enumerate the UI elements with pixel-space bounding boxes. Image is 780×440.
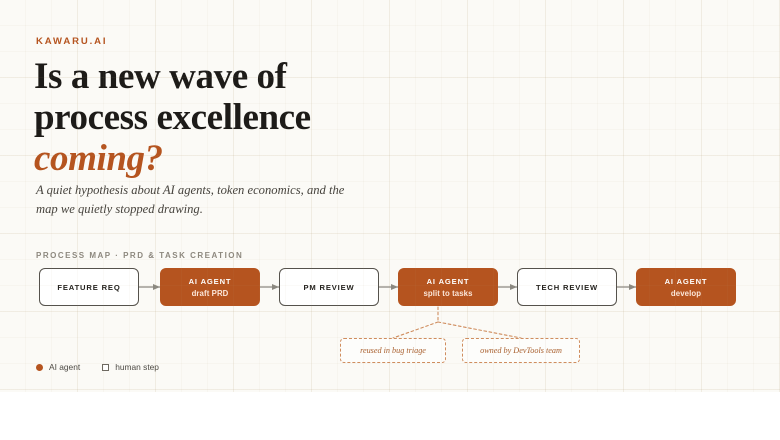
flow-node-title: PM REVIEW — [303, 283, 354, 292]
annotation-label: reused in bug triage — [360, 346, 426, 355]
annotation-owned-by-devtools[interactable]: owned by DevTools team — [462, 338, 580, 363]
flow-node-subtitle: develop — [671, 289, 701, 298]
ai-agent-swatch-icon — [36, 364, 43, 371]
flow-node-tech-review[interactable]: TECH REVIEW — [517, 268, 617, 306]
flow-node-title: AI AGENT — [189, 277, 232, 286]
flow-node-title: AI AGENT — [427, 277, 470, 286]
flow-node-subtitle: draft PRD — [192, 289, 229, 298]
flow-node-title: TECH REVIEW — [536, 283, 598, 292]
section-label: PROCESS MAP · PRD & TASK CREATION — [36, 251, 243, 260]
content-layer: KAWARU.AI Is a new wave of process excel… — [0, 0, 780, 392]
flow-node-pm-review[interactable]: PM REVIEW — [279, 268, 379, 306]
annotation-reused-in-bug-triage[interactable]: reused in bug triage — [340, 338, 446, 363]
legend-label: human step — [115, 362, 159, 372]
flow-node-title: FEATURE REQ — [57, 283, 120, 292]
human-step-swatch-icon — [102, 364, 109, 371]
legend: AI agent human step — [36, 362, 159, 372]
legend-item-human-step: human step — [102, 362, 159, 372]
brand-wordmark: KAWARU.AI — [36, 36, 107, 47]
flow-node-split-to-tasks[interactable]: AI AGENT split to tasks — [398, 268, 498, 306]
legend-label: AI agent — [49, 362, 80, 372]
legend-item-ai-agent: AI agent — [36, 362, 80, 372]
page-title: Is a new wave of process excellence comi… — [34, 56, 464, 179]
headline-accent: coming? — [34, 138, 464, 179]
flow-node-develop[interactable]: AI AGENT develop — [636, 268, 736, 306]
annotation-label: owned by DevTools team — [480, 346, 562, 355]
subtitle-deck: A quiet hypothesis about AI agents, toke… — [36, 181, 366, 219]
flow-node-draft-prd[interactable]: AI AGENT draft PRD — [160, 268, 260, 306]
poster-canvas: KAWARU.AI Is a new wave of process excel… — [0, 0, 780, 392]
flow-node-feature-req[interactable]: FEATURE REQ — [39, 268, 139, 306]
headline-line-1: Is a new wave of — [34, 56, 287, 97]
headline-line-2: process excellence — [34, 97, 311, 138]
flow-node-title: AI AGENT — [665, 277, 708, 286]
flow-node-subtitle: split to tasks — [423, 289, 472, 298]
